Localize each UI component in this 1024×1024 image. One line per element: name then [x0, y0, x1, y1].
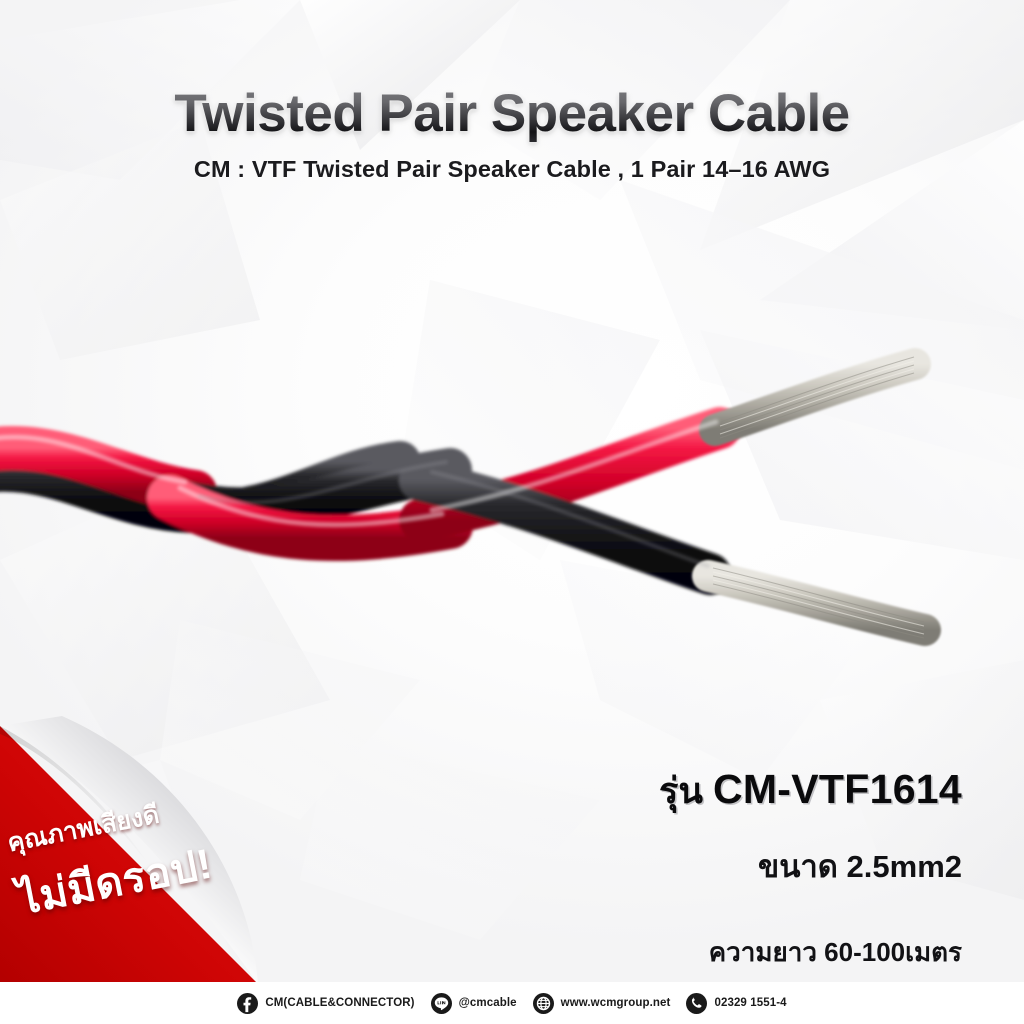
line-icon [431, 993, 452, 1014]
phone-icon [686, 993, 707, 1014]
contact-facebook-label: CM(CABLE&CONNECTOR) [265, 997, 414, 1009]
contact-line[interactable]: @cmcable [431, 993, 517, 1014]
contact-website[interactable]: www.wcmgroup.net [533, 993, 671, 1014]
twisted-pair-cable-image [0, 330, 1024, 660]
product-poster: Twisted Pair Speaker Cable CM : VTF Twis… [0, 0, 1024, 1024]
contact-footer-bar: CM(CABLE&CONNECTOR) @cmcable [0, 982, 1024, 1024]
contact-website-label: www.wcmgroup.net [561, 997, 671, 1009]
promo-ribbon: คุณภาพเสียงดี ไม่มีดรอป! [0, 716, 268, 984]
contact-line-label: @cmcable [459, 997, 517, 1009]
facebook-icon [237, 993, 258, 1014]
contact-facebook[interactable]: CM(CABLE&CONNECTOR) [237, 993, 414, 1014]
contact-phone[interactable]: 02329 1551-4 [686, 993, 786, 1014]
globe-icon [533, 993, 554, 1014]
contact-phone-label: 02329 1551-4 [714, 997, 786, 1009]
